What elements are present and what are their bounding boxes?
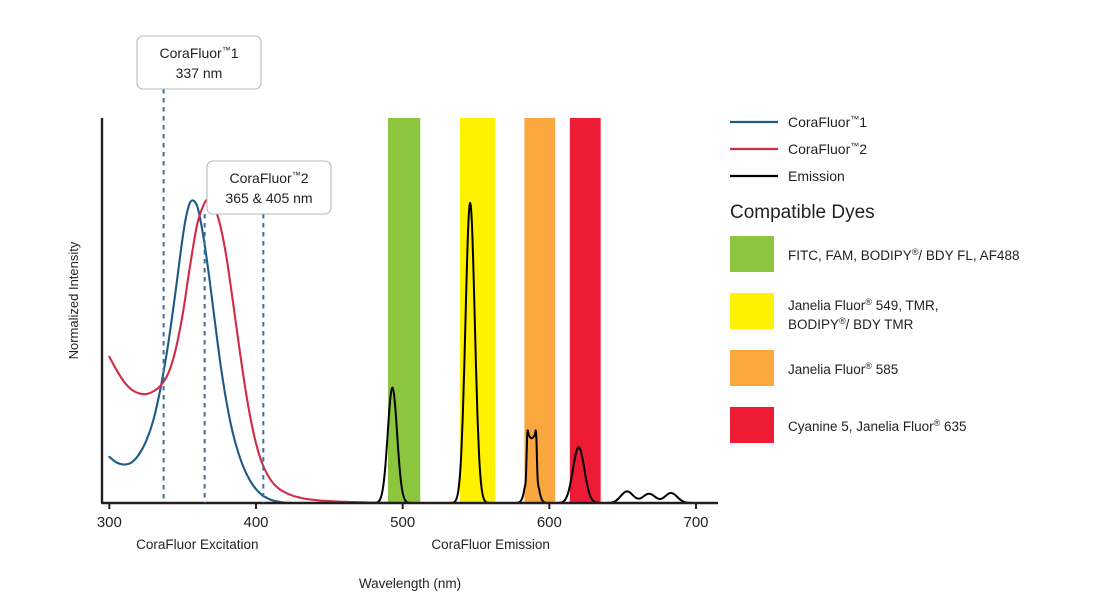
dye-swatch	[730, 350, 774, 386]
dye-label-line2: BODIPY®/ BDY TMR	[788, 316, 914, 332]
x-tick-label: 500	[390, 514, 415, 531]
excitation-curve-2	[109, 200, 402, 503]
fluorescence-spectra-figure: 300400500600700CoraFluor ExcitationCoraF…	[0, 0, 1110, 612]
dye-swatch	[730, 236, 774, 272]
corafluor1-callout-box	[137, 36, 261, 89]
dye-swatch	[730, 293, 774, 329]
x-axis-title: Wavelength (nm)	[359, 576, 461, 591]
axis-section-label: CoraFluor Emission	[431, 537, 550, 552]
orange-band	[524, 118, 555, 503]
compatible-dyes-heading: Compatible Dyes	[730, 202, 875, 223]
legend-label: Emission	[788, 168, 845, 184]
dye-label-line1: Janelia Fluor® 549, TMR,	[788, 297, 938, 313]
excitation-curve-1	[109, 200, 329, 503]
red-band	[570, 118, 601, 503]
corafluor2-callout-box	[207, 161, 331, 214]
corafluor1-callout-line2: 337 nm	[176, 65, 223, 81]
dye-label-line1: Cyanine 5, Janelia Fluor® 635	[788, 418, 967, 434]
y-axis-title: Normalized Intensity	[66, 241, 81, 359]
x-tick-label: 300	[97, 514, 122, 531]
x-tick-label: 700	[683, 514, 708, 531]
dye-label-line1: Janelia Fluor® 585	[788, 361, 898, 377]
axis-section-label: CoraFluor Excitation	[136, 537, 258, 552]
dye-label-line1: FITC, FAM, BODIPY®/ BDY FL, AF488	[788, 247, 1019, 263]
legend-label: CoraFluor™2	[788, 141, 867, 157]
spectra-chart: 300400500600700CoraFluor ExcitationCoraF…	[0, 0, 1110, 612]
dye-swatch	[730, 407, 774, 443]
x-tick-label: 400	[243, 514, 268, 531]
x-tick-label: 600	[537, 514, 562, 531]
legend-label: CoraFluor™1	[788, 114, 867, 130]
green-band	[388, 118, 420, 503]
corafluor2-callout-line2: 365 & 405 nm	[225, 190, 312, 206]
